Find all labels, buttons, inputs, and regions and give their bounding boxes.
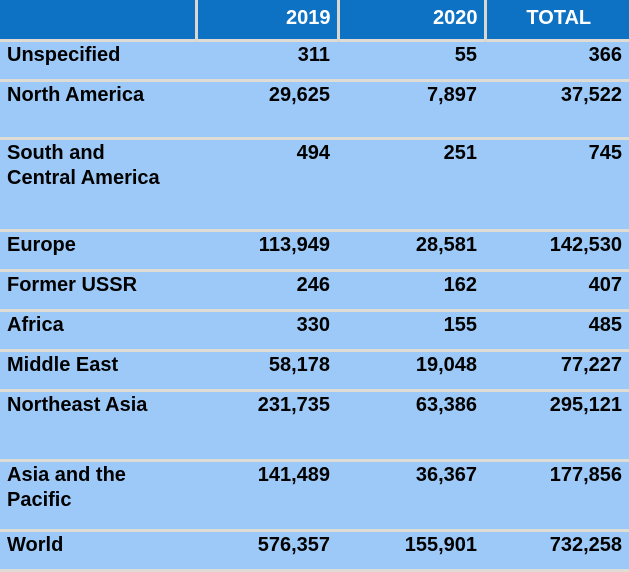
cell-2020: 162 xyxy=(338,270,485,310)
table-row: Europe113,94928,581142,530 xyxy=(0,230,629,270)
row-label-text: Asia and the Pacific xyxy=(7,463,188,513)
statistics-table: 2019 2020 TOTAL Unspecified31155366North… xyxy=(0,0,629,572)
table-header: 2019 2020 TOTAL xyxy=(0,0,629,40)
table-row: Northeast Asia231,73563,386295,121 xyxy=(0,390,629,460)
row-label: Europe xyxy=(0,230,196,270)
cell-2020: 28,581 xyxy=(338,230,485,270)
column-header-region xyxy=(0,0,196,40)
cell-total-value: 745 xyxy=(485,138,629,230)
cell-total-value: 142,530 xyxy=(485,230,629,270)
cell-2019: 246 xyxy=(196,270,338,310)
table-row: Middle East58,17819,04877,227 xyxy=(0,350,629,390)
cell-2020: 19,048 xyxy=(338,350,485,390)
table-body: Unspecified31155366North America29,6257,… xyxy=(0,40,629,570)
cell-2020: 155,901 xyxy=(338,530,485,570)
row-label: Northeast Asia xyxy=(0,390,196,460)
cell-2019: 29,625 xyxy=(196,80,338,138)
row-label: North America xyxy=(0,80,196,138)
cell-total-value: 366 xyxy=(485,40,629,80)
row-label: World xyxy=(0,530,196,570)
row-label-text: Unspecified xyxy=(7,43,188,68)
row-label-text: Northeast Asia xyxy=(7,393,188,418)
cell-2020: 155 xyxy=(338,310,485,350)
row-label-text: Europe xyxy=(7,233,188,258)
cell-2020: 55 xyxy=(338,40,485,80)
table-row: Unspecified31155366 xyxy=(0,40,629,80)
row-label: Africa xyxy=(0,310,196,350)
row-label-text: North America xyxy=(7,83,188,108)
cell-2020: 7,897 xyxy=(338,80,485,138)
column-header-total: TOTAL xyxy=(485,0,629,40)
row-label-text: Middle East xyxy=(7,353,188,378)
table-row: World576,357155,901732,258 xyxy=(0,530,629,570)
table-row: Africa330155485 xyxy=(0,310,629,350)
column-header-2020: 2020 xyxy=(338,0,485,40)
cell-2019: 58,178 xyxy=(196,350,338,390)
cell-total-value: 295,121 xyxy=(485,390,629,460)
row-label-text: South and Central America xyxy=(7,141,188,191)
cell-total-value: 177,856 xyxy=(485,460,629,530)
cell-2019: 576,357 xyxy=(196,530,338,570)
table-row: South and Central America494251745 xyxy=(0,138,629,230)
table-row: Former USSR246162407 xyxy=(0,270,629,310)
cell-total-value: 77,227 xyxy=(485,350,629,390)
row-label: Asia and the Pacific xyxy=(0,460,196,530)
column-header-2019: 2019 xyxy=(196,0,338,40)
row-label-text: Former USSR xyxy=(7,273,188,298)
cell-2019: 113,949 xyxy=(196,230,338,270)
row-label-text: World xyxy=(7,533,188,558)
cell-total-value: 485 xyxy=(485,310,629,350)
cell-2019: 231,735 xyxy=(196,390,338,460)
cell-2020: 36,367 xyxy=(338,460,485,530)
cell-2019: 494 xyxy=(196,138,338,230)
row-label: Former USSR xyxy=(0,270,196,310)
cell-2019: 141,489 xyxy=(196,460,338,530)
table-header-row: 2019 2020 TOTAL xyxy=(0,0,629,40)
cell-2019: 330 xyxy=(196,310,338,350)
cell-total-value: 37,522 xyxy=(485,80,629,138)
row-label: Middle East xyxy=(0,350,196,390)
cell-2020: 63,386 xyxy=(338,390,485,460)
row-label: Unspecified xyxy=(0,40,196,80)
cell-2020: 251 xyxy=(338,138,485,230)
table-row: North America29,6257,89737,522 xyxy=(0,80,629,138)
table-row: Asia and the Pacific141,48936,367177,856 xyxy=(0,460,629,530)
row-label: South and Central America xyxy=(0,138,196,230)
cell-2019: 311 xyxy=(196,40,338,80)
cell-total-value: 407 xyxy=(485,270,629,310)
row-label-text: Africa xyxy=(7,313,188,338)
cell-total-value: 732,258 xyxy=(485,530,629,570)
